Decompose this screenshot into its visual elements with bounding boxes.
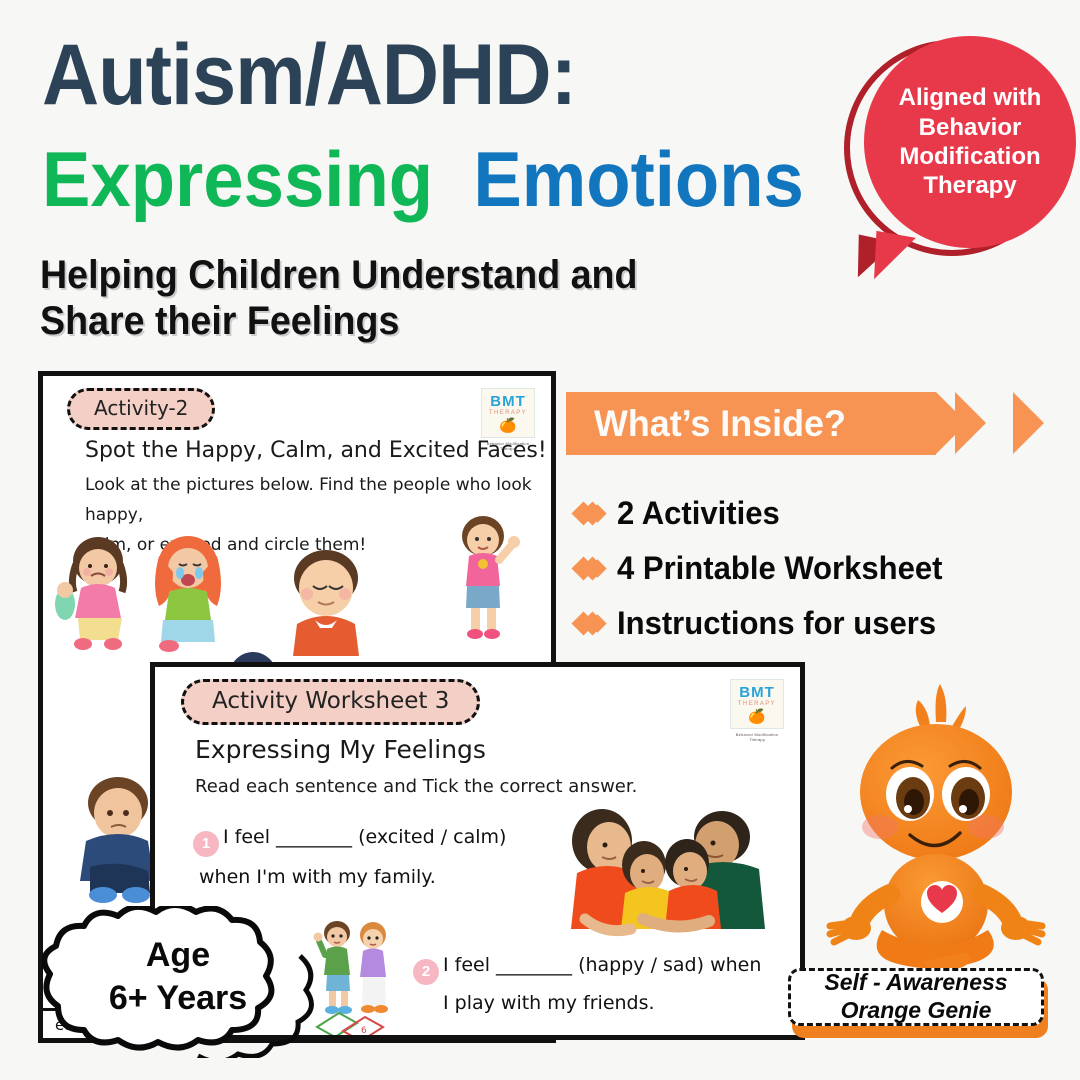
friends-hopscotch-illustration: 6: [303, 917, 413, 1037]
orange-genie-mascot: [818, 672, 1058, 972]
badge-label: Aligned with Behavior Modification Thera…: [891, 83, 1050, 200]
mascot-label-box: Self - Awareness Orange Genie: [788, 968, 1044, 1026]
worksheet2-question-1-line-1: 1I feel ________ (excited / calm): [193, 819, 506, 857]
worksheet2-activity-pill: Activity Worksheet 3: [181, 679, 480, 725]
mascot-name-label: Self - Awareness Orange Genie: [788, 968, 1050, 1040]
list-item: 4 Printable Worksheet: [575, 550, 1075, 587]
worksheet2-heading: Expressing My Feelings: [195, 735, 486, 764]
double-diamond-bullet-icon: [575, 501, 601, 527]
page-title-line-2: Expressing Emotions: [42, 140, 804, 218]
worksheet2-question-2-line-2: I play with my friends.: [443, 985, 655, 1022]
list-item: 2 Activities: [575, 495, 1075, 532]
child-excited-girl: [462, 516, 520, 639]
page-subtitle: Helping Children Understand and Share th…: [40, 252, 637, 345]
genie-blush-right: [968, 815, 1004, 839]
child-calm-boy: [293, 550, 359, 656]
bmt-logo-brand: BMT: [739, 685, 775, 700]
age-badge: Age 6+ Years: [42, 906, 314, 1058]
genie-blush-left: [862, 815, 898, 839]
bmt-logo-brand: BMT: [490, 394, 526, 409]
whats-inside-banner: What’s Inside?: [566, 392, 936, 455]
list-item: Instructions for users: [575, 605, 1075, 642]
page-title-emotions: Emotions: [473, 135, 803, 223]
genie-heart-icon: [921, 881, 963, 923]
page-title-line-1: Autism/ADHD:: [42, 32, 576, 118]
aligned-badge: Aligned with Behavior Modification Thera…: [838, 28, 1074, 316]
family-hug-illustration: [547, 807, 777, 957]
worksheet2-body: Read each sentence and Tick the correct …: [195, 771, 637, 803]
bmt-logo-box: BMT THERAPY 🍊: [481, 388, 535, 438]
brain-fruit-icon: 🍊: [499, 418, 516, 432]
mascot-label-text: Self - Awareness Orange Genie: [824, 969, 1007, 1024]
genie-eye-right: [942, 767, 990, 821]
question-number-badge: 2: [413, 959, 439, 985]
age-badge-label: Age 6+ Years: [42, 934, 314, 1019]
svg-text:6: 6: [361, 1026, 367, 1036]
question-1-text: I feel ________ (excited / calm): [223, 826, 506, 848]
whats-inside-list: 2 Activities 4 Printable Worksheet Instr…: [575, 495, 1075, 660]
question-number-badge: 1: [193, 831, 219, 857]
chevron-right-icon-1: [955, 392, 986, 454]
worksheet2-question-1-line-2: when I'm with my family.: [199, 859, 436, 896]
poster-canvas: Autism/ADHD: Expressing Emotions Helping…: [0, 0, 1080, 1080]
badge-bubble: Aligned with Behavior Modification Thera…: [864, 36, 1076, 248]
child-crying-girl: [155, 536, 221, 652]
list-item-label: 4 Printable Worksheet: [617, 550, 942, 587]
worksheet1-heading: Spot the Happy, Calm, and Excited Faces!: [85, 438, 547, 463]
question-2-text: I feel ________ (happy / sad) when: [443, 954, 761, 976]
double-diamond-bullet-icon: [575, 556, 601, 582]
chevron-right-icon-2: [1013, 392, 1044, 454]
bmt-logo-caption: Behavior Modification Therapy: [730, 732, 784, 742]
page-title-expressing: Expressing: [42, 135, 433, 223]
list-item-label: Instructions for users: [617, 605, 936, 642]
bmt-logo: BMT THERAPY 🍊 Behavior Modification Ther…: [730, 679, 784, 742]
worksheet1-activity-pill: Activity-2: [67, 388, 215, 430]
child-sad-girl-doll: [55, 537, 124, 650]
brain-fruit-icon: 🍊: [748, 709, 765, 723]
child-sad-boy-knees: [80, 777, 154, 903]
list-item-label: 2 Activities: [617, 495, 780, 532]
double-diamond-bullet-icon: [575, 611, 601, 637]
bmt-logo-box: BMT THERAPY 🍊: [730, 679, 784, 729]
whats-inside-title: What’s Inside?: [594, 403, 846, 445]
genie-eye-left: [886, 767, 934, 821]
